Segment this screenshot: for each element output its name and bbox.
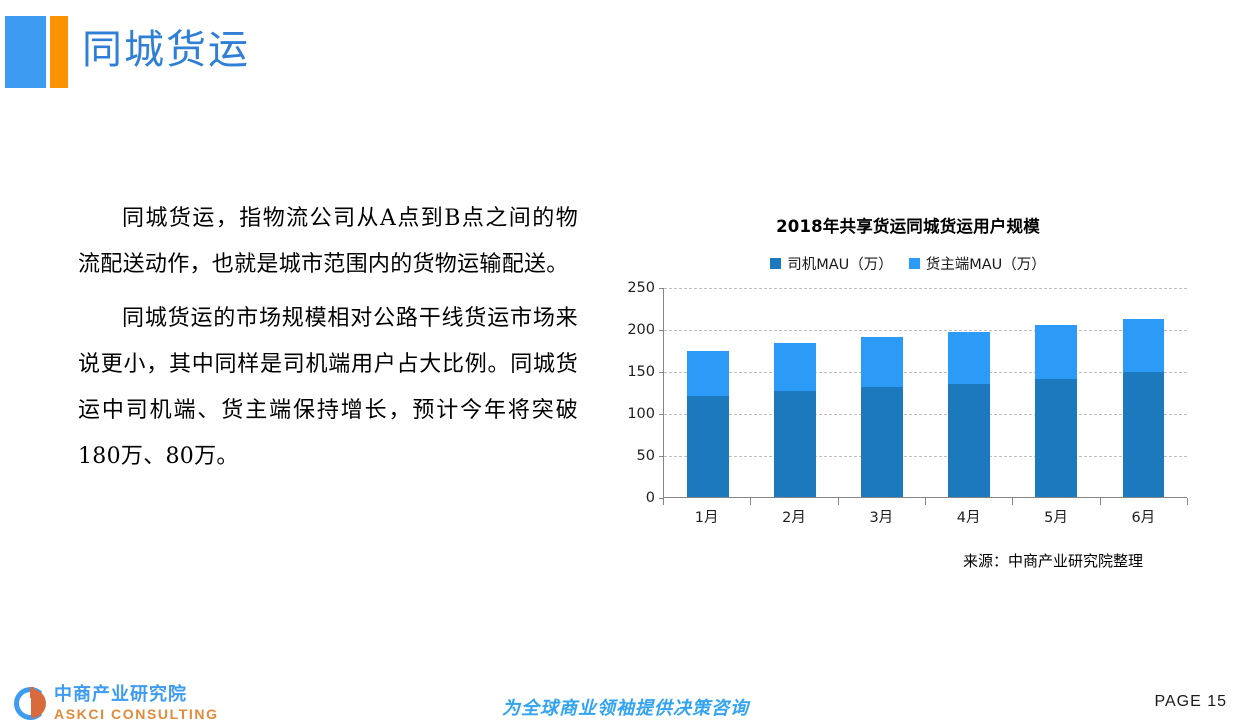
bar-slot bbox=[838, 288, 925, 497]
y-tick-label: 150 bbox=[620, 364, 655, 380]
x-tick-mark bbox=[925, 498, 926, 505]
y-tick-label: 200 bbox=[620, 322, 655, 338]
bar-segment-shipper[interactable] bbox=[948, 332, 990, 384]
bar-stack[interactable] bbox=[774, 343, 816, 497]
bar-slot bbox=[1013, 288, 1100, 497]
chart-legend: 司机MAU（万） 货主端MAU（万） bbox=[628, 253, 1188, 274]
bar-slot bbox=[926, 288, 1013, 497]
x-tick-label: 3月 bbox=[838, 506, 925, 527]
bar-segment-driver[interactable] bbox=[1123, 372, 1165, 497]
bar-segment-driver[interactable] bbox=[687, 396, 729, 497]
plot-wrapper: 050100150200250 1月2月3月4月5月6月 bbox=[620, 288, 1190, 538]
header-accent-block-blue bbox=[5, 16, 46, 88]
bar-stack[interactable] bbox=[687, 351, 729, 497]
x-tick-label: 1月 bbox=[663, 506, 750, 527]
bar-stack[interactable] bbox=[1123, 319, 1165, 497]
legend-swatch-shipper bbox=[909, 258, 920, 269]
x-tick-mark bbox=[1012, 498, 1013, 505]
plot-area bbox=[663, 288, 1187, 498]
bar-stack[interactable] bbox=[948, 332, 990, 497]
page-number: PAGE 15 bbox=[1154, 693, 1227, 711]
x-tick-label: 2月 bbox=[750, 506, 837, 527]
bar-segment-shipper[interactable] bbox=[774, 343, 816, 391]
bar-segment-driver[interactable] bbox=[1035, 379, 1077, 497]
legend-entry-driver: 司机MAU（万） bbox=[770, 253, 893, 274]
legend-swatch-driver bbox=[770, 258, 781, 269]
x-tick-mark bbox=[1187, 498, 1188, 505]
header-accent-block-orange bbox=[50, 16, 68, 88]
bar-series-group bbox=[664, 288, 1187, 497]
x-tick-mark bbox=[750, 498, 751, 505]
bar-segment-shipper[interactable] bbox=[1123, 319, 1165, 372]
bar-slot bbox=[664, 288, 751, 497]
x-tick-label: 4月 bbox=[925, 506, 1012, 527]
bar-slot bbox=[751, 288, 838, 497]
y-tick-label: 100 bbox=[620, 406, 655, 422]
x-axis-ticks bbox=[663, 498, 1187, 505]
x-axis-labels: 1月2月3月4月5月6月 bbox=[663, 506, 1187, 527]
x-tick-mark bbox=[838, 498, 839, 505]
bar-segment-driver[interactable] bbox=[861, 387, 903, 497]
y-tick-label: 50 bbox=[620, 448, 655, 464]
x-tick-mark bbox=[1100, 498, 1101, 505]
x-tick-label: 6月 bbox=[1100, 506, 1187, 527]
legend-label-shipper: 货主端MAU（万） bbox=[926, 253, 1046, 274]
footer-tagline: 为全球商业领袖提供决策咨询 bbox=[0, 694, 1251, 720]
body-paragraph-1: 同城货运，指物流公司从A点到B点之间的物流配送动作，也就是城市范围内的货物运输配… bbox=[78, 196, 578, 288]
bar-stack[interactable] bbox=[861, 337, 903, 497]
legend-label-driver: 司机MAU（万） bbox=[787, 253, 893, 274]
bar-segment-shipper[interactable] bbox=[687, 351, 729, 396]
bar-segment-driver[interactable] bbox=[948, 384, 990, 497]
body-text-block: 同城货运，指物流公司从A点到B点之间的物流配送动作，也就是城市范围内的货物运输配… bbox=[78, 196, 578, 480]
chart-title: 2018年共享货运同城货运用户规模 bbox=[628, 213, 1188, 237]
bar-segment-driver[interactable] bbox=[774, 391, 816, 497]
chart-panel: 2018年共享货运同城货运用户规模 司机MAU（万） 货主端MAU（万） 050… bbox=[620, 200, 1210, 590]
x-tick-label: 5月 bbox=[1012, 506, 1099, 527]
bar-stack[interactable] bbox=[1035, 325, 1077, 497]
chart-source-note: 来源：中商产业研究院整理 bbox=[963, 550, 1143, 571]
body-paragraph-2: 同城货运的市场规模相对公路干线货运市场来说更小，其中同样是司机端用户占大比例。同… bbox=[78, 296, 578, 480]
y-tick-label: 0 bbox=[620, 490, 655, 506]
slide-title: 同城货运 bbox=[82, 22, 250, 78]
bar-slot bbox=[1100, 288, 1187, 497]
x-tick-mark bbox=[663, 498, 664, 505]
bar-segment-shipper[interactable] bbox=[861, 337, 903, 387]
bar-segment-shipper[interactable] bbox=[1035, 325, 1077, 379]
y-tick-label: 250 bbox=[620, 280, 655, 296]
legend-entry-shipper: 货主端MAU（万） bbox=[909, 253, 1046, 274]
